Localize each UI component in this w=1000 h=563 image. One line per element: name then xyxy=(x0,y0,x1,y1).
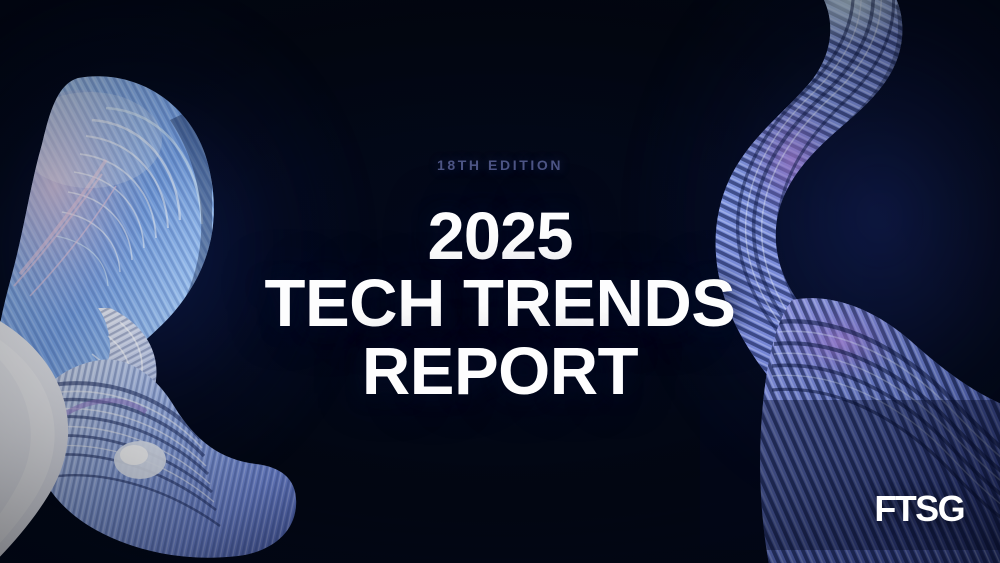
page-title-year: 2025 xyxy=(0,206,1000,268)
ftsg-logo: FTSG xyxy=(874,491,964,527)
ftsg-logo-text: FTSG xyxy=(874,491,964,527)
page-title-line-2: TECH TRENDS xyxy=(0,273,1000,335)
page-title-line-3: REPORT xyxy=(0,341,1000,403)
cover-title-block: 18TH EDITION 2025 TECH TRENDS REPORT xyxy=(0,158,1000,403)
report-cover: 18TH EDITION 2025 TECH TRENDS REPORT FTS… xyxy=(0,0,1000,563)
edition-label: 18TH EDITION xyxy=(0,158,1000,172)
